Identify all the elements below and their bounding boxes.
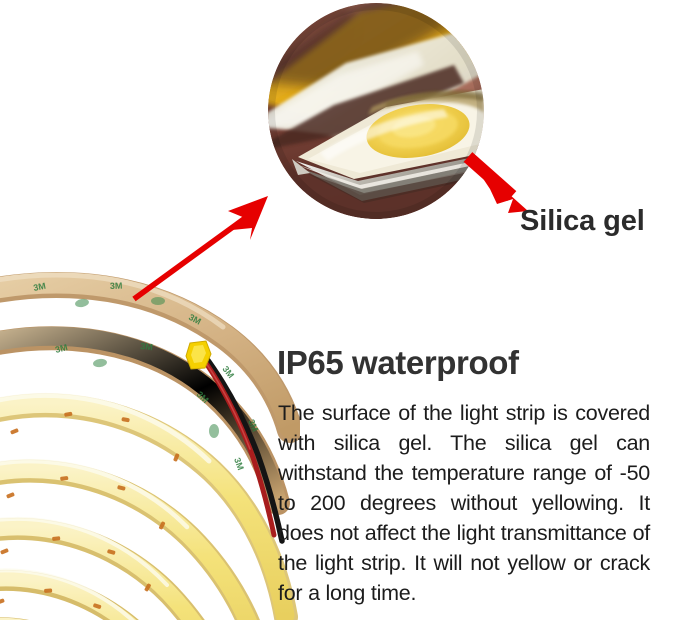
silica-gel-macro-inset [268, 3, 484, 219]
page-title: IP65 waterproof [277, 344, 519, 382]
svg-text:3M: 3M [110, 281, 123, 291]
arrow-down-right-icon [468, 157, 528, 213]
description-text: The surface of the light strip is covere… [278, 398, 650, 608]
infographic-canvas: 3M 3M 3M 3M 3M 3M 3M 3M 3M [0, 0, 679, 612]
svg-text:3M: 3M [140, 341, 153, 352]
silica-gel-callout-label: Silica gel [520, 205, 645, 238]
cob-led-strip-reel-photo: 3M 3M 3M 3M 3M 3M 3M 3M 3M [0, 245, 300, 620]
